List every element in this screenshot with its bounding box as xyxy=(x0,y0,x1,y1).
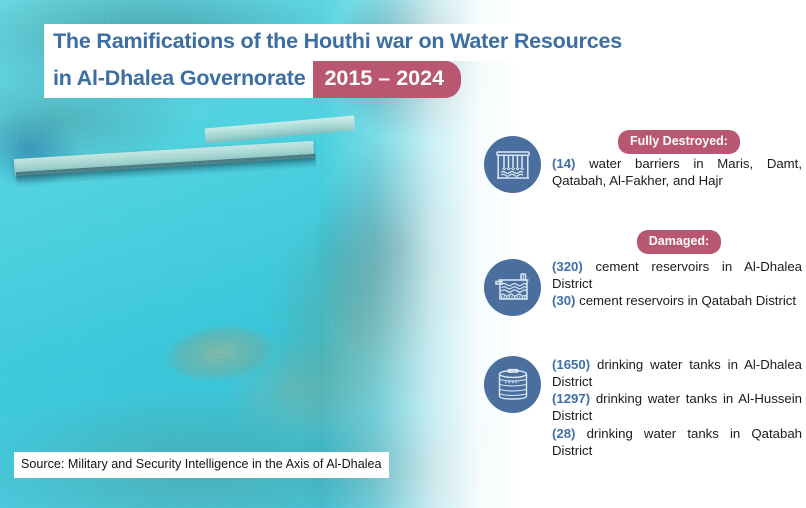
stat-text-water-tanks: (1650) drinking water tanks in Al-Dhalea… xyxy=(552,356,802,459)
stat-count: (30) xyxy=(552,293,575,308)
title-year-range-badge: 2015 – 2024 xyxy=(313,61,461,98)
statistics-panel: Fully Destroyed: (14) water barriers in … xyxy=(476,0,806,508)
water-tank-icon xyxy=(484,356,541,413)
badge-fully-destroyed-row: Fully Destroyed: xyxy=(552,130,806,154)
poster-title-row-2: in Al-Dhalea Governorate 2015 – 2024 xyxy=(44,61,461,98)
status-badge: Damaged: xyxy=(637,230,721,254)
stat-count: (1297) xyxy=(552,391,590,406)
stat-line: (1297) drinking water tanks in Al-Hussei… xyxy=(552,390,802,424)
badge-damaged-row: Damaged: xyxy=(552,230,806,254)
stat-description: water barriers in Maris, Damt, Qatabah, … xyxy=(552,156,802,188)
source-caption: Source: Military and Security Intelligen… xyxy=(14,452,389,478)
stat-description: drinking water tanks in Al-Hussein Distr… xyxy=(552,391,802,423)
stat-line: (320) cement reservoirs in Al-Dhalea Dis… xyxy=(552,258,802,292)
dam-icon xyxy=(484,136,541,193)
title-line-2: in Al-Dhalea Governorate xyxy=(44,61,314,98)
stat-count: (320) xyxy=(552,259,583,274)
stat-description: cement reservoirs in Al-Dhalea District xyxy=(552,259,802,291)
stat-line: (14) water barriers in Maris, Damt, Qata… xyxy=(552,155,802,189)
stat-line: (30) cement reservoirs in Qatabah Distri… xyxy=(552,292,802,309)
stat-line: (1650) drinking water tanks in Al-Dhalea… xyxy=(552,356,802,390)
stat-description: drinking water tanks in Al-Dhalea Distri… xyxy=(552,357,802,389)
stat-text-damaged: (320) cement reservoirs in Al-Dhalea Dis… xyxy=(552,258,802,309)
stat-count: (1650) xyxy=(552,357,590,372)
stat-description: drinking water tanks in Qatabah District xyxy=(552,426,802,458)
stat-text-fully-destroyed: (14) water barriers in Maris, Damt, Qata… xyxy=(552,155,802,189)
stat-count: (14) xyxy=(552,156,575,171)
stat-line: (28) drinking water tanks in Qatabah Dis… xyxy=(552,425,802,459)
status-badge: Fully Destroyed: xyxy=(618,130,740,154)
cement-reservoir-icon xyxy=(484,259,541,316)
stat-description: cement reservoirs in Qatabah District xyxy=(575,293,796,308)
stat-count: (28) xyxy=(552,426,575,441)
infographic-poster: The Ramifications of the Houthi war on W… xyxy=(0,0,806,508)
